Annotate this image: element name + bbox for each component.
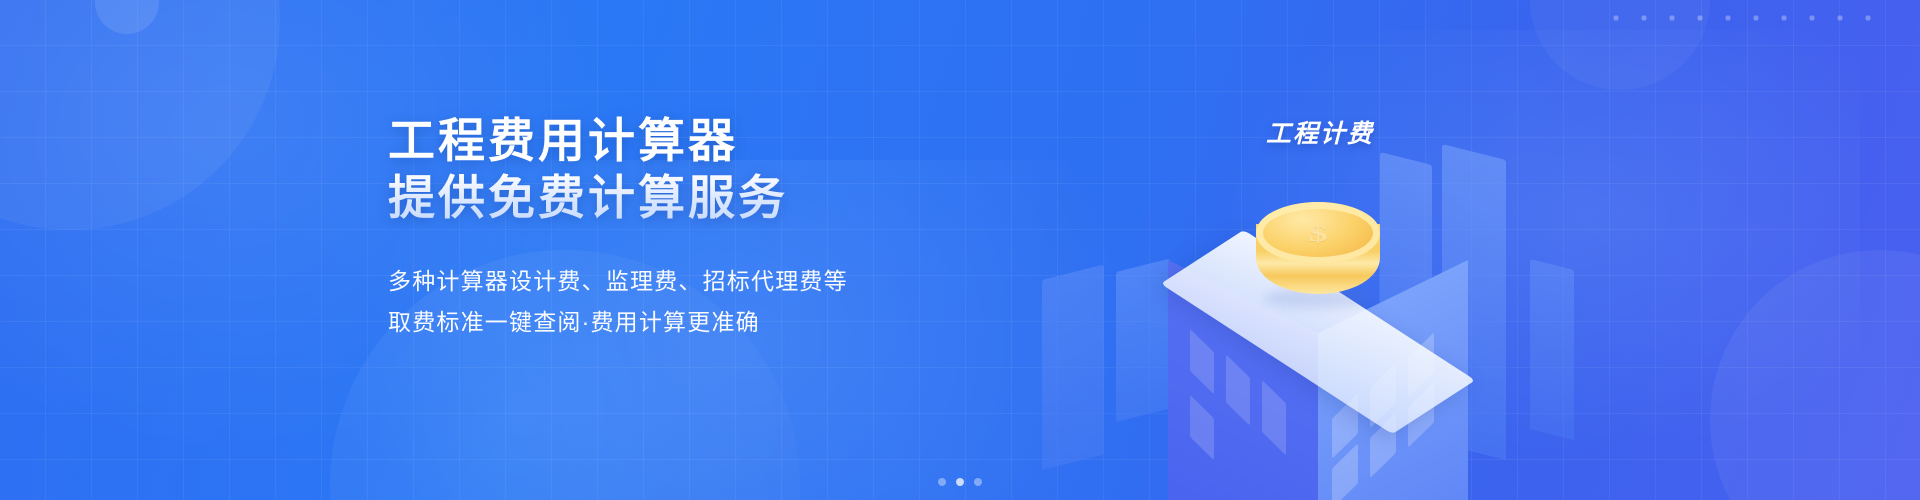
carousel-dot-3[interactable] bbox=[974, 478, 982, 486]
page-title: 工程费用计算器 提供免费计算服务 bbox=[388, 112, 1028, 227]
building-window bbox=[1262, 380, 1286, 455]
dollar-sign-icon: $ bbox=[1256, 217, 1380, 252]
building-window bbox=[1226, 354, 1250, 425]
illustration-badge-label: 工程计费 bbox=[1266, 114, 1374, 150]
headline-line-1: 工程费用计算器 bbox=[388, 112, 1028, 169]
banner-copy-block: 工程费用计算器 提供免费计算服务 多种计算器设计费、监理费、招标代理费等 取费标… bbox=[388, 112, 1028, 343]
carousel-dot-2[interactable] bbox=[956, 478, 964, 486]
decorative-bar-5 bbox=[1530, 259, 1574, 440]
isometric-building-icon: $ 工程计费 bbox=[1168, 180, 1468, 500]
building-window bbox=[1190, 395, 1214, 460]
decorative-circle-small bbox=[95, 0, 159, 34]
carousel-dots[interactable] bbox=[0, 478, 1920, 486]
decorative-dot-matrix bbox=[1602, 4, 1872, 38]
gold-coin-icon: $ 工程计费 bbox=[1256, 202, 1380, 310]
banner-subtitle: 多种计算器设计费、监理费、招标代理费等 取费标准一键查阅·费用计算更准确 bbox=[388, 261, 1028, 343]
banner-illustration: $ 工程计费 bbox=[1020, 0, 1580, 500]
decorative-bar-1 bbox=[1042, 265, 1104, 470]
subtitle-line-1: 多种计算器设计费、监理费、招标代理费等 bbox=[388, 261, 1028, 302]
decorative-circle-right bbox=[1710, 250, 1920, 500]
building-window bbox=[1190, 329, 1214, 394]
carousel-dot-1[interactable] bbox=[938, 478, 946, 486]
promo-banner: 工程费用计算器 提供免费计算服务 多种计算器设计费、监理费、招标代理费等 取费标… bbox=[0, 0, 1920, 500]
headline-line-2: 提供免费计算服务 bbox=[388, 169, 1028, 226]
decorative-circle-top-left bbox=[0, 0, 280, 230]
subtitle-line-2: 取费标准一键查阅·费用计算更准确 bbox=[388, 302, 1028, 343]
